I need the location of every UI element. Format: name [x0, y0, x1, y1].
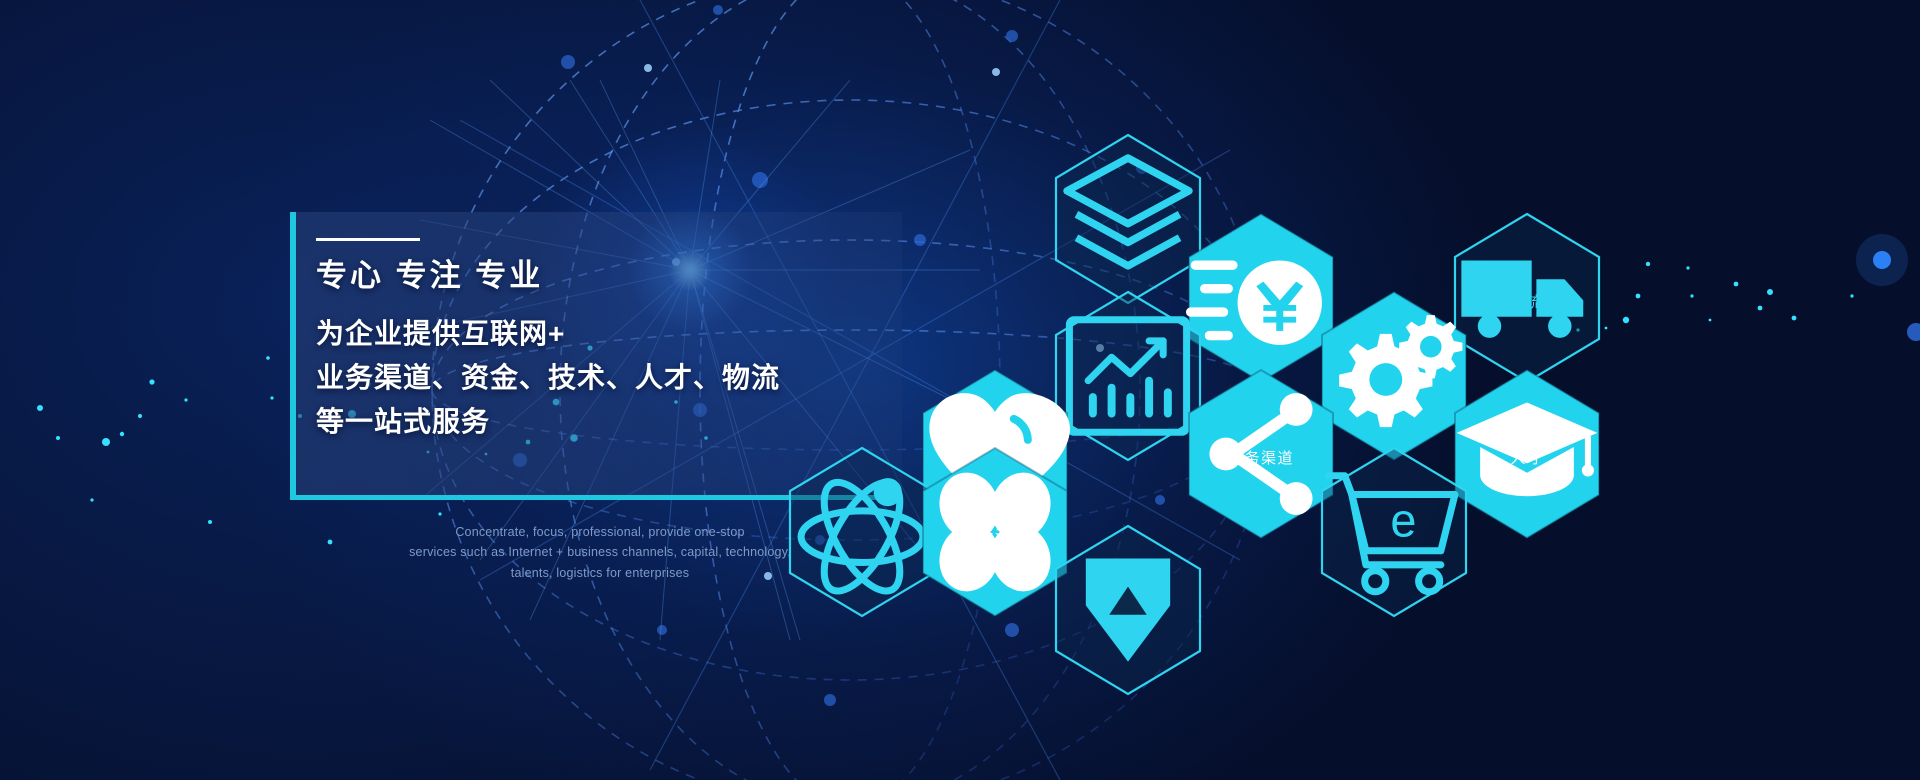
hexagon-logistics[interactable]: 物流 [1452, 212, 1602, 384]
hexagon-channels[interactable]: 业务渠道 [1186, 368, 1336, 540]
hexagon-talent[interactable]: 人才 [1452, 368, 1602, 540]
hero-banner: 专心 专注 专业 为企业提供互联网+ 业务渠道、资金、技术、人才、物流 等一站式… [0, 0, 1920, 780]
hexagon-capital[interactable]: 资金 [1186, 212, 1336, 384]
hexagon-tech[interactable]: 技术 [1319, 290, 1469, 462]
hexagon-layers[interactable] [1053, 133, 1203, 305]
hexagon-atom[interactable] [787, 446, 937, 618]
svg-text:e: e [1390, 495, 1416, 547]
hexagon-ecommerce[interactable]: e [1319, 446, 1469, 618]
hexagon-pro[interactable]: 专业 [1053, 524, 1203, 696]
hexagon-focus[interactable]: 专注 [920, 446, 1070, 618]
hexagon-analytics[interactable] [1053, 290, 1203, 462]
hexagon-grid: 资金物流技术专心业务渠道人才专注e专业 [0, 0, 1920, 780]
